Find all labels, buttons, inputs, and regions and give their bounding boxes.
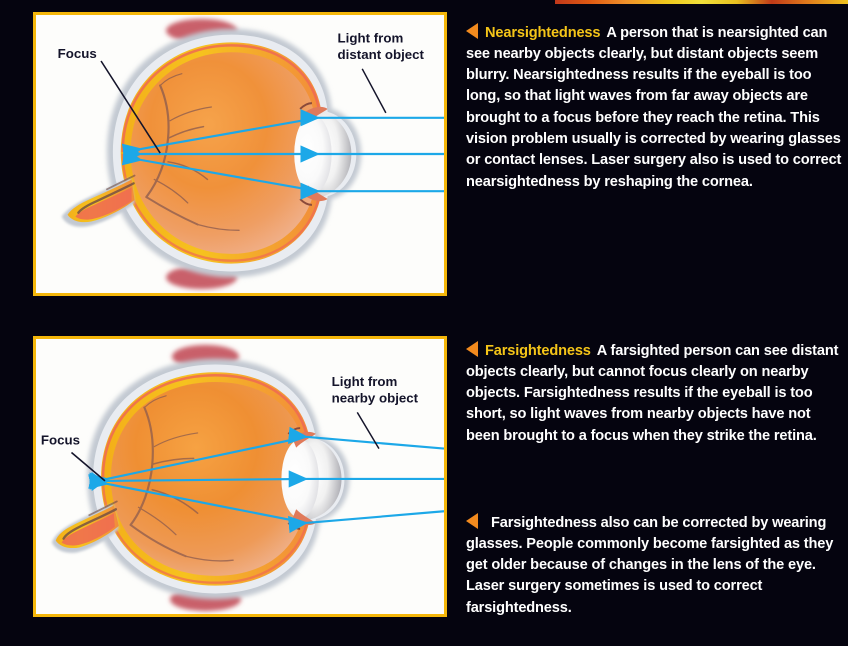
farsightedness-correction-paragraph: Farsightedness also can be corrected by … [466, 513, 842, 619]
light-source-label-line2: distant object [338, 47, 425, 62]
nearsighted-eye-illustration: Focus Light from distant object [36, 15, 444, 293]
farsightedness-paragraph: FarsightednessA farsighted person can se… [466, 341, 842, 447]
farsightedness-correction-text-block: Farsightedness also can be corrected by … [466, 498, 842, 634]
triangle-bullet-icon [466, 341, 478, 357]
optic-nerve [62, 176, 135, 227]
triangle-bullet-icon [466, 513, 478, 529]
nearsightedness-body: A person that is nearsighted can see nea… [466, 25, 841, 190]
triangle-bullet-icon [466, 23, 478, 39]
light-source-label-line1: Light from [332, 374, 398, 389]
farsighted-eye-illustration: Focus Light from nearby object [36, 339, 444, 614]
light-source-leader-line [362, 69, 386, 113]
light-source-label-line2: nearby object [332, 391, 419, 406]
farsightedness-correction-body: Farsightedness also can be corrected by … [466, 515, 833, 616]
page-root: Focus Light from distant object [0, 0, 848, 646]
focus-label: Focus [58, 46, 97, 61]
farsightedness-keyword: Farsightedness [485, 343, 591, 359]
nearsightedness-paragraph: NearsightednessA person that is nearsigh… [466, 23, 842, 193]
focus-label: Focus [41, 433, 80, 448]
nearsightedness-text-block: NearsightednessA person that is nearsigh… [466, 8, 842, 208]
light-source-label-line1: Light from [338, 30, 404, 45]
nearsighted-eye-panel: Focus Light from distant object [33, 12, 447, 296]
nearsightedness-keyword: Nearsightedness [485, 25, 600, 41]
decorative-top-rule [555, 0, 848, 4]
farsighted-eye-panel: Focus Light from nearby object [33, 336, 447, 617]
farsightedness-text-block: FarsightednessA farsighted person can se… [466, 326, 842, 462]
